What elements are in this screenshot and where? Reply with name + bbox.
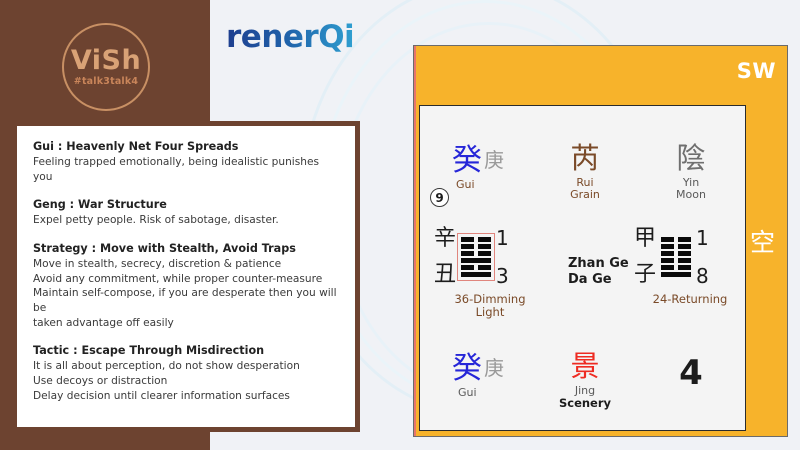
palace-big-number: 4 [648, 356, 734, 390]
stem-jia-glyph: 甲 [634, 228, 656, 250]
cell-bottom-left-stems: 癸 庚 Gui [452, 354, 504, 399]
reading-section-gui: Gui : Heavenly Net Four Spreads Feeling … [33, 139, 339, 184]
cell-top-left-stems: 癸 庚 Gui [452, 146, 504, 191]
stem-romanization: Gui [456, 179, 504, 191]
door-jing-glyph: 景 [542, 352, 628, 381]
reading-panel-body: Gui : Heavenly Net Four Spreads Feeling … [17, 126, 355, 427]
reading-panel: Gui : Heavenly Net Four Spreads Feeling … [12, 121, 360, 432]
star-rui-glyph: 芮 [542, 144, 628, 173]
section-line: Expel petty people. Risk of sabotage, di… [33, 213, 339, 228]
vish-logo-hashtag: #talk3talk4 [74, 76, 138, 87]
section-line: Move in stealth, secrecy, discretion & p… [33, 257, 339, 272]
section-title: Geng : War Structure [33, 197, 339, 212]
cell-bottom-right-number: 4 [648, 356, 734, 390]
hexagram-36-group: 辛 丑 [430, 228, 558, 286]
section-title: Strategy : Move with Stealth, Avoid Trap… [33, 241, 339, 256]
cell-hexagram-24: 甲 子 1 [632, 228, 750, 306]
pillar-stem-branch-left: 辛 丑 [434, 228, 456, 286]
branch-chou-glyph: 丑 [434, 264, 456, 286]
branch-zi-glyph: 子 [634, 264, 656, 286]
slide-canvas: ViSh #talk3talk4 renerQi Gui : Heavenly … [0, 0, 800, 450]
hexagram-36-line-numbers: 1 3 [496, 228, 509, 286]
deity-translation: Moon [648, 189, 734, 201]
door-translation: Scenery [542, 397, 628, 410]
section-line: Delay decision until clearer information… [33, 389, 339, 404]
section-title: Gui : Heavenly Net Four Spreads [33, 139, 339, 154]
palace-grid: 9 癸 庚 Gui 芮 Rui Grain 陰 Yin Moon [419, 105, 746, 431]
direction-label-sw: SW [737, 59, 776, 83]
section-line: It is all about perception, do not show … [33, 359, 339, 374]
reading-section-geng: Geng : War Structure Expel petty people.… [33, 197, 339, 228]
hexagram-figure [661, 237, 691, 277]
section-line: Avoid any commitment, while proper count… [33, 272, 339, 287]
stem-xin-glyph: 辛 [434, 228, 456, 250]
hexagram-36-lines [461, 237, 491, 277]
palace-number-badge: 9 [430, 188, 449, 207]
stem-romanization: Gui [458, 387, 504, 399]
hexagram-24-line-numbers: 1 8 [696, 228, 709, 286]
reading-section-tactic: Tactic : Escape Through Misdirection It … [33, 343, 339, 403]
void-label: 空 [750, 230, 775, 255]
section-line: taken advantage off easily [33, 316, 339, 331]
hexagram-figure [461, 237, 491, 277]
hexagram-24-lines [661, 237, 691, 277]
hexagram-36-name-line1: 36-Dimming [430, 293, 550, 306]
section-line: Feeling trapped emotionally, being ideal… [33, 155, 339, 184]
vish-logo-wordmark: ViSh [71, 47, 141, 74]
hexagram-24-name: 24-Returning [632, 293, 748, 306]
star-translation: Grain [542, 189, 628, 201]
line-number-top: 1 [696, 228, 709, 248]
section-line: Maintain self-compose, if you are desper… [33, 286, 339, 315]
deity-yin-glyph: 陰 [648, 144, 734, 173]
renerqi-brand-title: renerQi [226, 19, 354, 55]
cell-bottom-middle-door: 景 Jing Scenery [542, 352, 628, 410]
stem-geng-glyph: 庚 [484, 150, 504, 170]
vish-logo: ViSh #talk3talk4 [62, 23, 150, 111]
line-number-bottom: 8 [696, 266, 709, 286]
pillar-stem-branch-right: 甲 子 [634, 228, 656, 286]
reading-section-strategy: Strategy : Move with Stealth, Avoid Trap… [33, 241, 339, 330]
hexagram-36-name-line2: Light [430, 306, 550, 319]
line-number-bottom: 3 [496, 266, 509, 286]
line-number-top: 1 [496, 228, 509, 248]
stem-gui-glyph: 癸 [452, 354, 482, 384]
cell-top-middle-star: 芮 Rui Grain [542, 144, 628, 201]
cell-top-right-deity: 陰 Yin Moon [648, 144, 734, 201]
section-title: Tactic : Escape Through Misdirection [33, 343, 339, 358]
section-line: Use decoys or distraction [33, 374, 339, 389]
stem-geng-glyph: 庚 [484, 358, 504, 378]
stem-gui-glyph: 癸 [452, 146, 482, 176]
cell-hexagram-36: 辛 丑 [430, 228, 558, 319]
qimen-palace-card: SW 空 9 癸 庚 Gui 芮 Rui Grain 陰 Yi [413, 45, 788, 437]
hexagram-24-group: 甲 子 1 [632, 228, 750, 286]
